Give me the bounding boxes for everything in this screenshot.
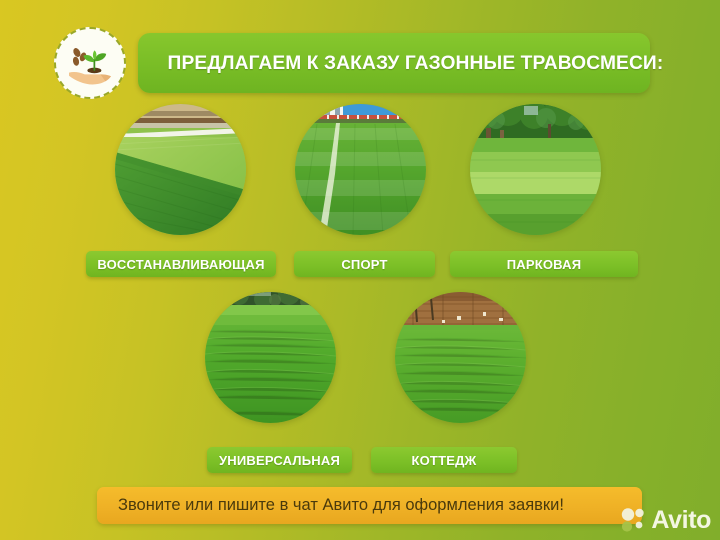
avito-watermark: Avito [620, 507, 711, 533]
product-label-kottedzh[interactable]: КОТТЕДЖ [371, 447, 517, 473]
product-image-kottedzh[interactable] [395, 292, 526, 423]
title-banner: ПРЕДЛАГАЕМ К ЗАКАЗУ ГАЗОННЫЕ ТРАВОСМЕСИ: [138, 33, 650, 93]
product-label-vosstanavlivayushchaya[interactable]: ВОССТАНАВЛИВАЮЩАЯ [86, 251, 276, 277]
avito-watermark-text: Avito [651, 508, 711, 533]
product-label-parkovaya[interactable]: ПАРКОВАЯ [450, 251, 638, 277]
product-image-vosstanavlivayushchaya[interactable] [115, 104, 246, 235]
product-image-parkovaya[interactable] [470, 104, 601, 235]
cta-text: Звоните или пишите в чат Авито для оформ… [97, 496, 564, 515]
avito-dots-icon [620, 507, 646, 533]
pill-text: ПАРКОВАЯ [507, 257, 582, 272]
cta-banner[interactable]: Звоните или пишите в чат Авито для оформ… [97, 487, 642, 524]
hand-holding-sprout-icon [54, 27, 126, 99]
product-image-universalnaya[interactable] [205, 292, 336, 423]
pill-text: УНИВЕРСАЛЬНАЯ [219, 453, 340, 468]
pill-text: СПОРТ [341, 257, 387, 272]
page-title: ПРЕДЛАГАЕМ К ЗАКАЗУ ГАЗОННЫЕ ТРАВОСМЕСИ: [138, 52, 663, 75]
product-image-sport[interactable] [295, 104, 426, 235]
pill-text: КОТТЕДЖ [411, 453, 476, 468]
promo-banner-canvas: ПРЕДЛАГАЕМ К ЗАКАЗУ ГАЗОННЫЕ ТРАВОСМЕСИ: [0, 0, 720, 540]
product-label-universalnaya[interactable]: УНИВЕРСАЛЬНАЯ [207, 447, 352, 473]
product-label-sport[interactable]: СПОРТ [294, 251, 435, 277]
pill-text: ВОССТАНАВЛИВАЮЩАЯ [97, 257, 264, 272]
